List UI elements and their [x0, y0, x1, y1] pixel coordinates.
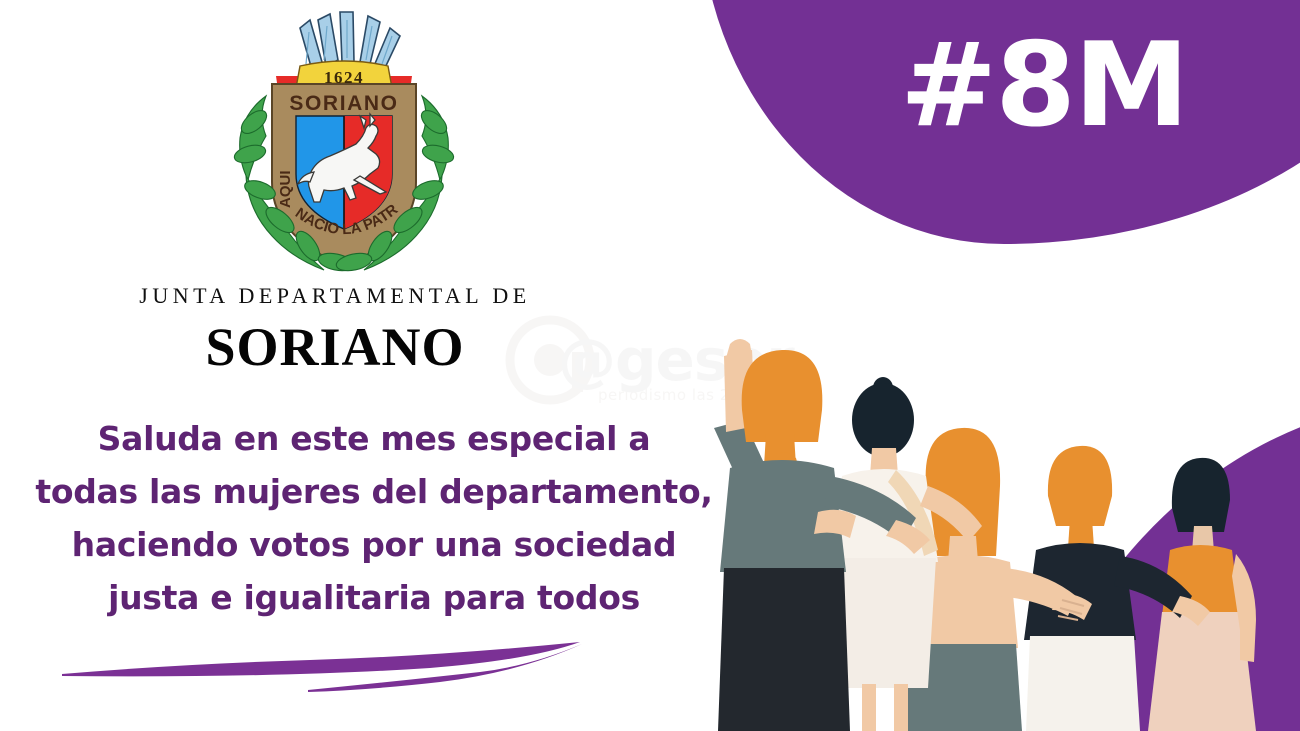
- greeting-line-3: haciendo votos por una sociedad: [4, 518, 744, 571]
- coat-of-arms: 1624 SORIANO: [214, 4, 474, 276]
- hashtag-8m-label: #8M: [900, 28, 1230, 144]
- greeting-line-2: todas las mujeres del departamento,: [4, 465, 744, 518]
- five-women-illustration: [700, 300, 1300, 731]
- org-name-line1: JUNTA DEPARTAMENTAL DE: [0, 283, 670, 309]
- svg-text:SORIANO: SORIANO: [289, 92, 398, 115]
- greeting-message: Saluda en este mes especial a todas las …: [4, 412, 744, 624]
- greeting-line-1: Saluda en este mes especial a: [4, 412, 744, 465]
- poster-canvas: #8M 1624 SORIANO: [0, 0, 1300, 731]
- brush-underline-decoration: [60, 628, 640, 708]
- svg-text:AQUI: AQUI: [277, 170, 294, 208]
- greeting-line-4: justa e igualitaria para todos: [4, 571, 744, 624]
